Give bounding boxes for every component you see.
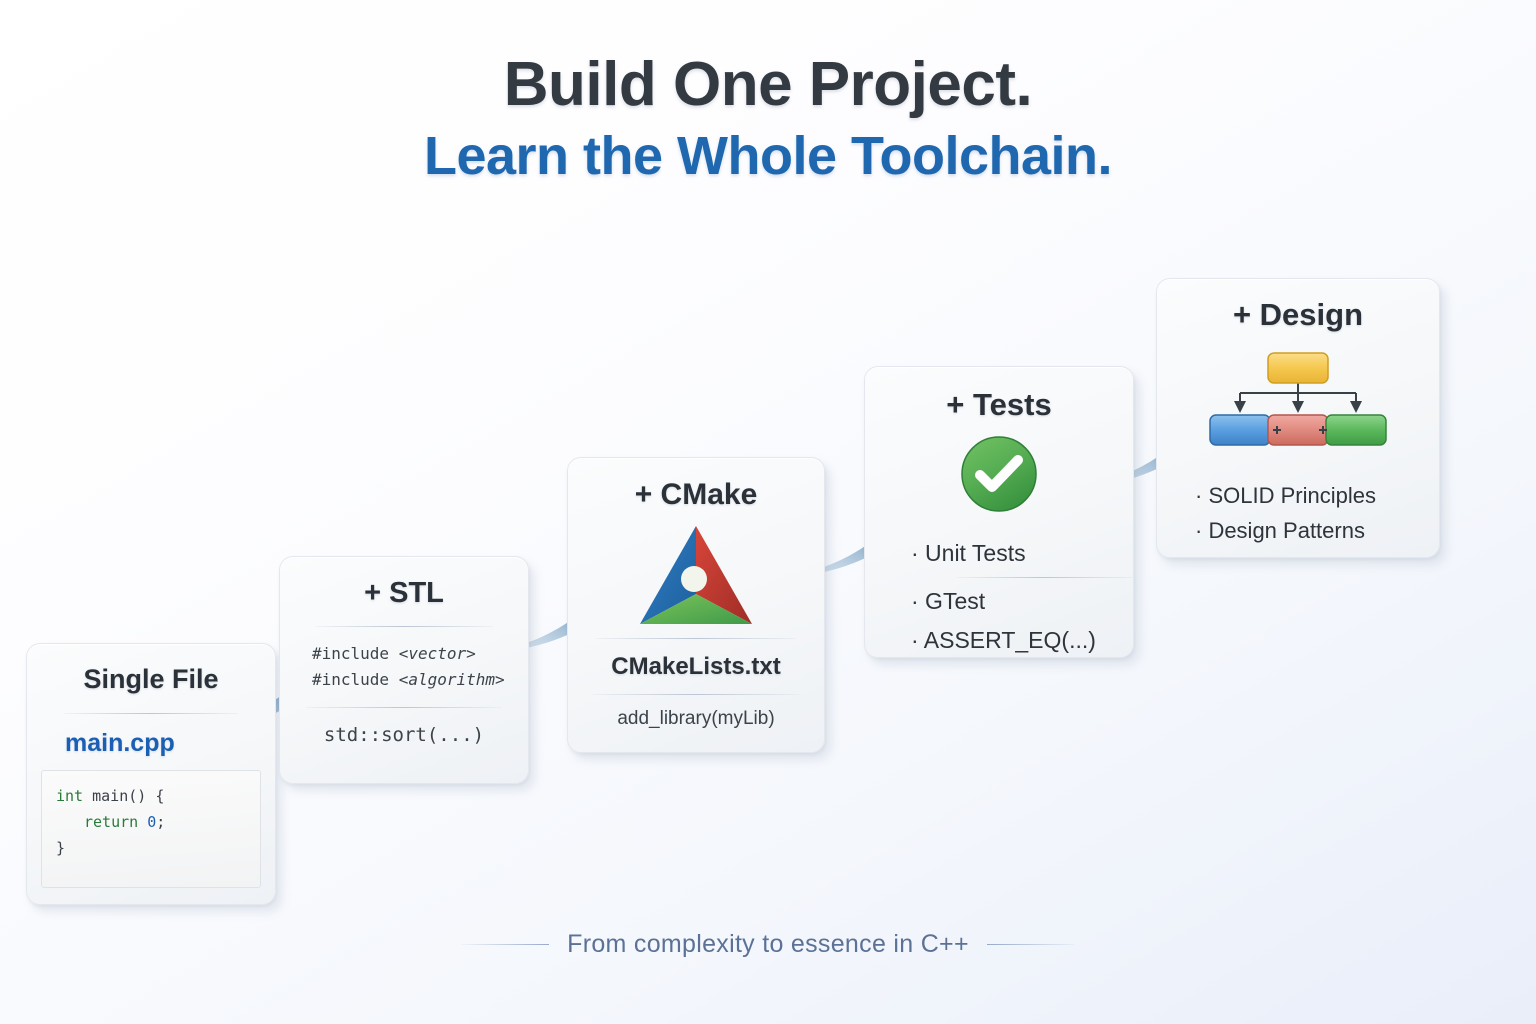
- code-line-2: return 0;: [56, 809, 246, 835]
- card-cmake[interactable]: + CMake CMakeLists.txt add_library(myLib…: [567, 457, 825, 753]
- tests-bullet-list: · Unit Tests · GTest · ASSERT_EQ(...): [865, 534, 1133, 660]
- green-check-circle-icon: [958, 433, 1040, 515]
- code-keyword-return: return: [84, 813, 138, 831]
- footer-tagline: From complexity to essence in C++: [567, 930, 969, 959]
- card-single-file[interactable]: Single File main.cpp int main() { return…: [26, 643, 276, 905]
- headline-secondary: Learn the Whole Toolchain.: [0, 125, 1536, 189]
- code-line-1: int main() {: [56, 783, 246, 809]
- include-directive: #include: [312, 644, 399, 663]
- footer-rule-left: [461, 944, 549, 945]
- cmake-add-library-command: add_library(myLib): [568, 708, 824, 730]
- card-tests[interactable]: + Tests · Unit Tests · GTest · ASSERT_EQ…: [864, 366, 1134, 658]
- headline-primary: Build One Project.: [0, 52, 1536, 117]
- stl-include-list: #include <vector> #include <algorithm>: [280, 641, 528, 693]
- card-stl[interactable]: + STL #include <vector> #include <algori…: [279, 556, 529, 784]
- card-cmake-title: + CMake: [568, 478, 824, 512]
- filename-main-cpp: main.cpp: [27, 729, 275, 758]
- footer-rule-right: [987, 944, 1075, 945]
- bullet-design-patterns: · Design Patterns: [1195, 513, 1439, 548]
- stl-sort-call: std::sort(...): [280, 724, 528, 746]
- include-header-vector: <vector>: [399, 644, 476, 663]
- card-single-file-title: Single File: [27, 664, 275, 695]
- code-line-3: }: [56, 835, 246, 861]
- check-icon-wrap: [865, 433, 1133, 520]
- cmake-triangle-logo-icon: [636, 524, 756, 628]
- card-stl-title: + STL: [280, 577, 528, 610]
- diagram-wrap: [1157, 347, 1439, 458]
- include-directive: #include: [312, 670, 399, 689]
- code-line-1-rest: main() {: [83, 787, 164, 805]
- divider: [64, 713, 238, 714]
- card-design-title: + Design: [1157, 297, 1439, 333]
- include-algorithm: #include <algorithm>: [312, 667, 528, 693]
- bullet-solid-principles: · SOLID Principles: [1195, 478, 1439, 513]
- design-bullet-list: · SOLID Principles · Design Patterns: [1157, 478, 1439, 548]
- code-keyword-int: int: [56, 787, 83, 805]
- headline-block: Build One Project. Learn the Whole Toolc…: [0, 52, 1536, 189]
- divider: [957, 577, 1133, 578]
- divider: [315, 626, 493, 627]
- include-header-algorithm: <algorithm>: [399, 670, 505, 689]
- card-design[interactable]: + Design: [1156, 278, 1440, 558]
- class-diagram-icon: [1198, 347, 1398, 453]
- code-semicolon: ;: [156, 813, 165, 831]
- divider: [593, 694, 799, 695]
- include-vector: #include <vector>: [312, 641, 528, 667]
- code-literal-zero: 0: [147, 813, 156, 831]
- card-tests-title: + Tests: [865, 387, 1133, 423]
- bullet-gtest: · GTest: [911, 582, 1133, 621]
- bullet-unit-tests: · Unit Tests: [911, 534, 1133, 573]
- divider: [306, 707, 502, 708]
- footer: From complexity to essence in C++: [0, 930, 1536, 959]
- filename-cmakelists: CMakeLists.txt: [568, 653, 824, 681]
- code-block: int main() { return 0; }: [41, 770, 261, 888]
- divider: [596, 638, 796, 639]
- bullet-assert-eq: · ASSERT_EQ(...): [911, 621, 1133, 660]
